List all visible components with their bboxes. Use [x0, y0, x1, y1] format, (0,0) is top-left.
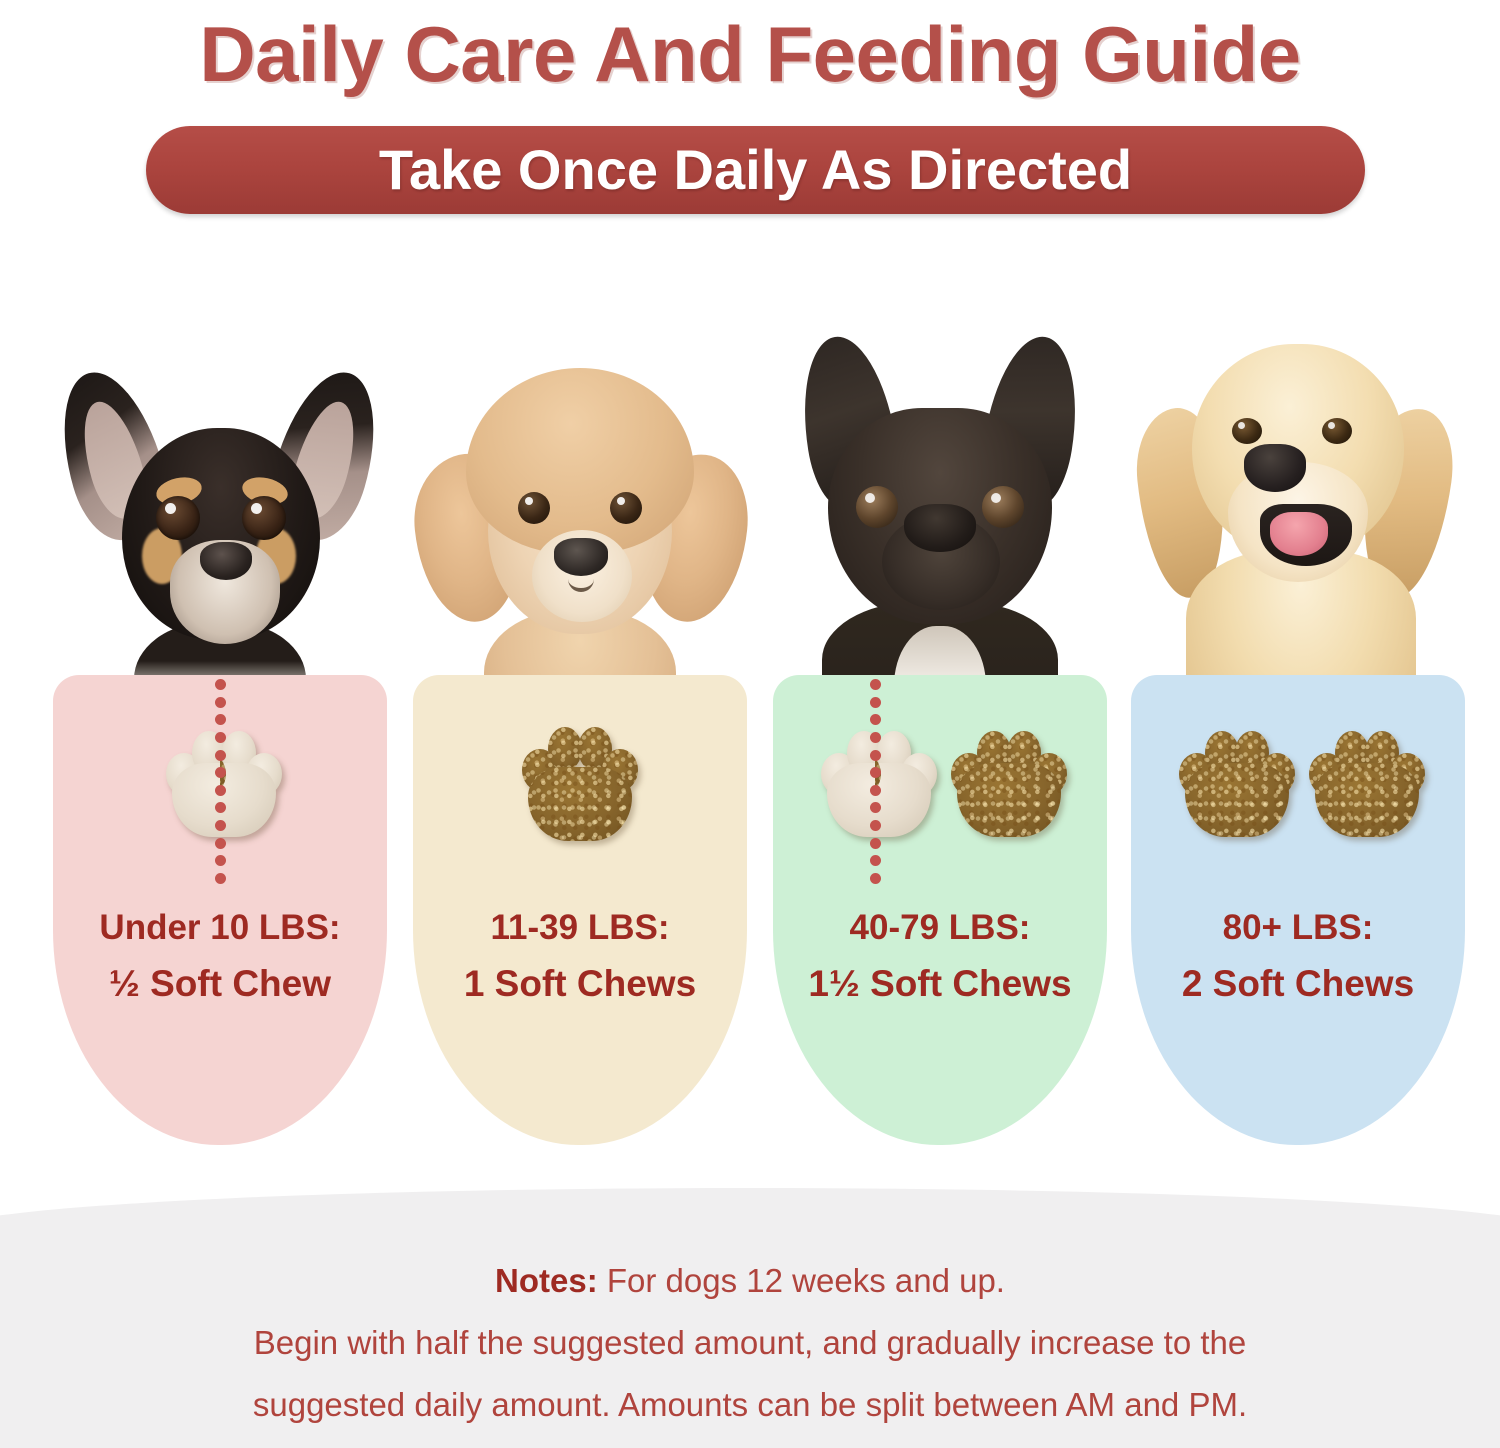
chew-row [773, 702, 1107, 862]
dose-label: 2 Soft Chews [1131, 956, 1465, 1012]
soft-chew-full [520, 723, 640, 841]
dosage-card-label: 11-39 LBS: 1 Soft Chews [413, 900, 747, 1012]
half-dose-cut-line [214, 679, 226, 884]
dog-nose [554, 538, 608, 576]
chew-row [413, 702, 747, 862]
dog-eye-right [1322, 418, 1352, 444]
weight-range-label: 80+ LBS: [1223, 908, 1374, 947]
weight-range-label: Under 10 LBS: [99, 908, 340, 947]
dosage-card-label: Under 10 LBS: ½ Soft Chew [53, 900, 387, 1012]
dog-eye-left [156, 496, 200, 540]
dog-eye-right [982, 486, 1024, 528]
soft-chew-full [949, 727, 1061, 837]
dosage-card-label: 40-79 LBS: 1½ Soft Chews [773, 900, 1107, 1012]
notes-line-3: suggested daily amount. Amounts can be s… [0, 1374, 1500, 1436]
dosage-card-80-plus-lbs[interactable]: 80+ LBS: 2 Soft Chews [1128, 300, 1468, 1160]
notes-line-2: Begin with half the suggested amount, an… [0, 1312, 1500, 1374]
dog-eye-left [1232, 418, 1262, 444]
page-title: Daily Care And Feeding Guide [0, 6, 1500, 102]
dose-label: ½ Soft Chew [53, 956, 387, 1012]
notes-label: Notes: [495, 1262, 598, 1299]
dog-crown-fur [466, 368, 694, 554]
dosage-card-under-10-lbs[interactable]: Under 10 LBS: ½ Soft Chew [50, 300, 390, 1160]
subtitle-badge-label: Take Once Daily As Directed [379, 140, 1132, 200]
notes-panel: Notes: For dogs 12 weeks and up. Begin w… [0, 1188, 1500, 1448]
chew-row [53, 702, 387, 862]
dog-nose [1244, 444, 1306, 492]
notes-line-1: Notes: For dogs 12 weeks and up. [0, 1250, 1500, 1312]
dog-eye-right [242, 496, 286, 540]
notes-line-1-text: For dogs 12 weeks and up. [598, 1262, 1005, 1299]
subtitle-badge: Take Once Daily As Directed [146, 126, 1365, 214]
weight-range-label: 11-39 LBS: [491, 908, 670, 947]
dosage-card-11-39-lbs[interactable]: 11-39 LBS: 1 Soft Chews [410, 300, 750, 1160]
feeding-guide-page: Daily Care And Feeding Guide Take Once D… [0, 0, 1500, 1448]
dog-eye-left [856, 486, 898, 528]
weight-range-label: 40-79 LBS: [850, 908, 1031, 947]
dog-nose [904, 504, 976, 552]
soft-chew-full [1177, 727, 1289, 837]
chew-row [1131, 702, 1465, 862]
half-dose-cut-line [869, 679, 881, 884]
soft-chew-full [1307, 727, 1419, 837]
dose-label: 1 Soft Chews [413, 956, 747, 1012]
dosage-card-row: Under 10 LBS: ½ Soft Chew [0, 300, 1500, 1160]
dosage-card-label: 80+ LBS: 2 Soft Chews [1131, 900, 1465, 1012]
dog-eye-right [610, 492, 642, 524]
dog-eye-left [518, 492, 550, 524]
dosage-card-40-79-lbs[interactable]: 40-79 LBS: 1½ Soft Chews [770, 300, 1110, 1160]
dose-label: 1½ Soft Chews [773, 956, 1107, 1012]
dog-tongue [1270, 512, 1328, 556]
